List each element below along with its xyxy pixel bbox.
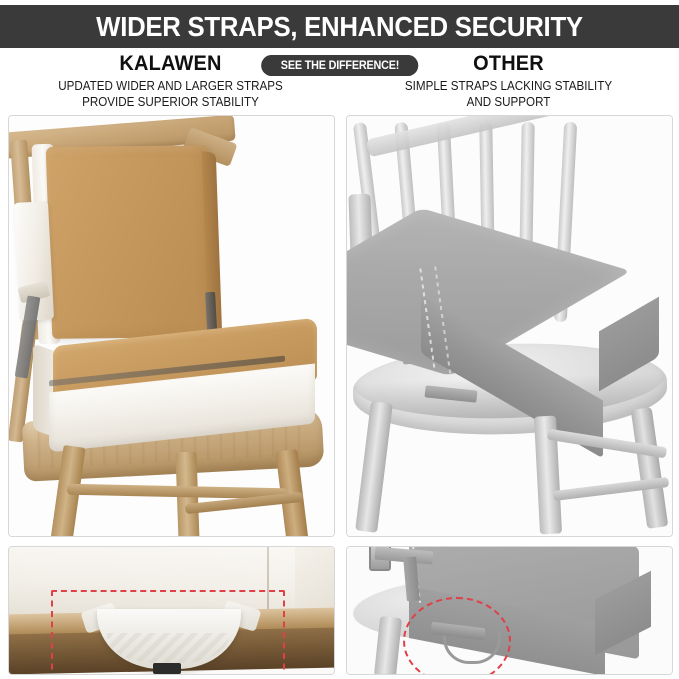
wide-strap-closeup-scene <box>9 547 334 674</box>
other-chair-scene <box>347 116 672 536</box>
highlight-rectangle <box>51 590 285 674</box>
right-brand-title: OTHER <box>354 52 663 76</box>
photo-panel-kalawen-main <box>8 115 335 537</box>
kalawen-chair-scene <box>9 116 334 536</box>
backrest-cushion-tan <box>46 145 217 339</box>
comparison-heading-row: KALAWEN UPDATED WIDER AND LARGER STRAPS … <box>0 52 679 112</box>
right-column-heading: OTHER SIMPLE STRAPS LACKING STABILITY AN… <box>346 52 671 110</box>
header-banner: WIDER STRAPS, ENHANCED SECURITY <box>0 5 679 48</box>
thin-strap-closeup-scene <box>347 547 672 674</box>
right-brand-subtitle: SIMPLE STRAPS LACKING STABILITY AND SUPP… <box>357 79 659 110</box>
header-title: WIDER STRAPS, ENHANCED SECURITY <box>96 11 583 43</box>
photo-panel-other-main <box>346 115 673 537</box>
photo-panel-other-detail <box>346 546 673 675</box>
infographic-root: WIDER STRAPS, ENHANCED SECURITY KALAWEN … <box>0 0 679 679</box>
photo-panel-kalawen-detail <box>8 546 335 675</box>
left-brand-subtitle: UPDATED WIDER AND LARGER STRAPS PROVIDE … <box>19 79 321 110</box>
